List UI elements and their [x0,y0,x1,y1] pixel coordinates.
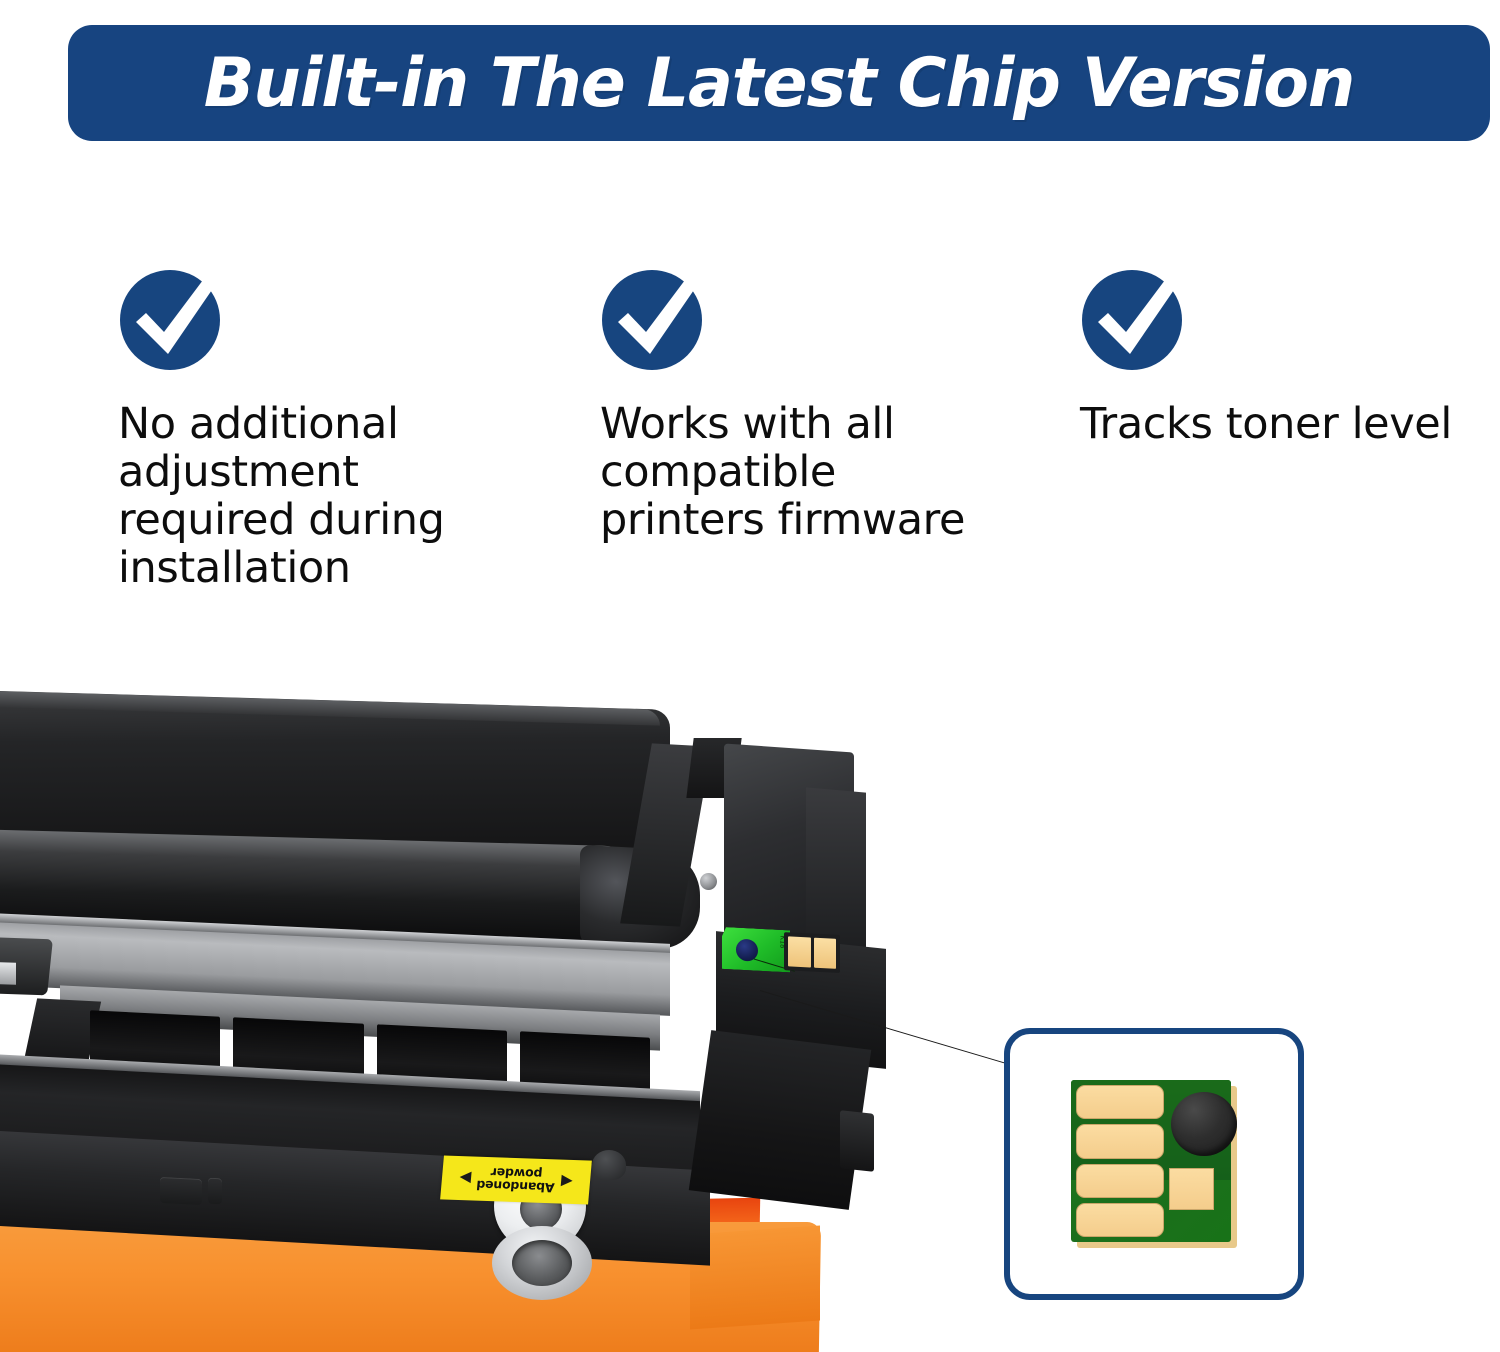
check-circle-icon [118,262,228,374]
feature-item-toner-level: Tracks toner level [1080,262,1500,448]
banner-title: Built-in The Latest Chip Version [204,44,1354,123]
chip-contact-pads [1076,1085,1164,1237]
chip-contact-pad [1076,1164,1164,1198]
panel-emboss [160,1177,202,1205]
fill-port-bore [512,1240,572,1286]
left-arrow-icon: ◀ [560,1174,573,1189]
feature-text: Works with all compatible printers firmw… [600,400,1050,544]
riser-tab [840,1110,874,1172]
chip-contact-pad [1076,1203,1164,1237]
cartridge-chip: K18 [722,927,842,975]
chip-square-pad [1169,1168,1214,1210]
feature-item-firmware: Works with all compatible printers firmw… [600,262,1050,544]
chip-ic-icon [1171,1092,1237,1156]
abandoned-powder-label: ◀ Abandoned powder ▶ [440,1155,592,1204]
check-circle-icon [1080,262,1190,374]
chip-contact-pad [814,938,837,969]
chip-contact-pad [1076,1124,1164,1158]
feature-text: Tracks toner level [1080,400,1500,448]
panel-emboss [208,1178,222,1205]
right-arrow-icon: ▶ [459,1171,472,1186]
chip-contact-pad [788,936,811,967]
chip-contact-pads [784,932,840,973]
left-metal-nub [0,961,16,985]
hub-bolt [592,1150,626,1180]
feature-item-no-adjustment: No additional adjustment required during… [118,262,518,593]
chip-contact-pad [1076,1085,1164,1119]
chip-detail-box [1004,1028,1304,1300]
feature-list: No additional adjustment required during… [0,262,1500,662]
warning-label-text: Abandoned powder [476,1166,556,1195]
drum-screw [700,873,717,890]
check-circle-icon [600,262,710,374]
chip-closeup-icon [1071,1080,1237,1248]
product-infographic: Built-in The Latest Chip Version No addi… [0,0,1500,1352]
feature-text: No additional adjustment required during… [118,400,518,593]
header-banner: Built-in The Latest Chip Version [68,25,1490,141]
